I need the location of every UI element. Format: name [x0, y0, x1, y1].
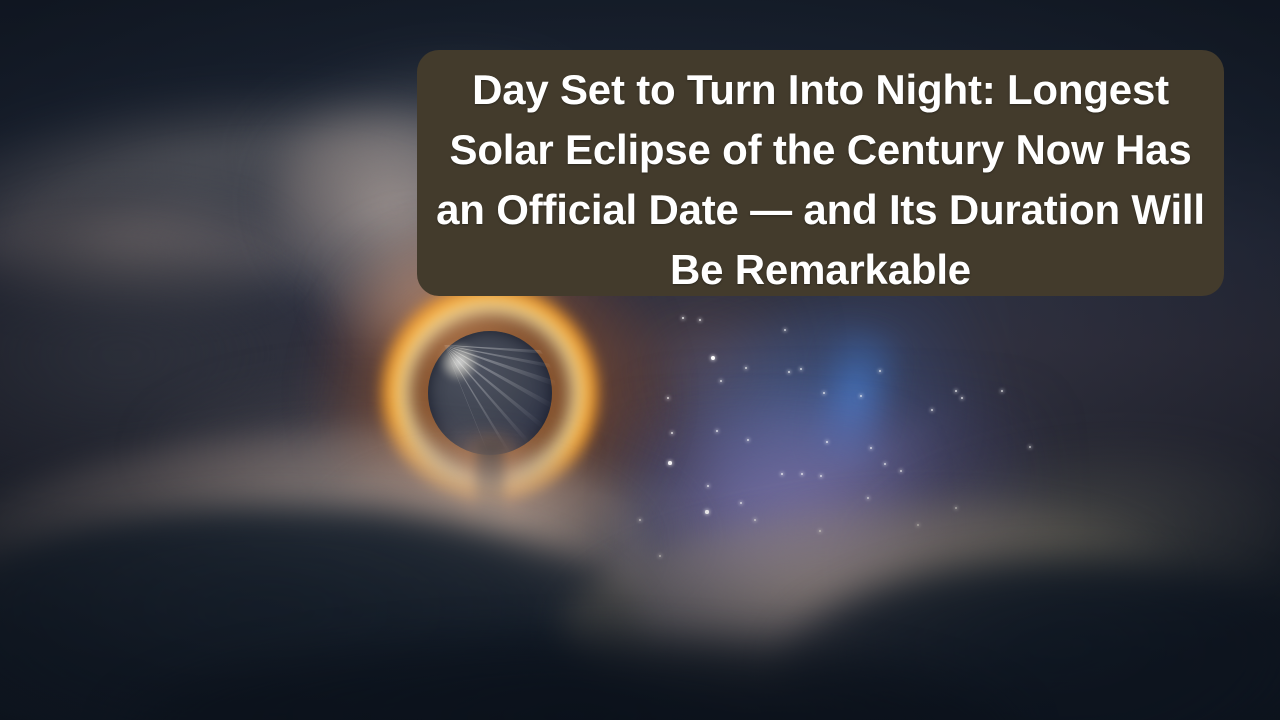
- star: [870, 447, 872, 449]
- star: [705, 510, 708, 513]
- star: [860, 395, 862, 397]
- headline-line: Day Set to Turn Into Night: Longest: [472, 66, 1169, 113]
- headline-card: Day Set to Turn Into Night: LongestSolar…: [417, 50, 1224, 296]
- star: [867, 497, 869, 499]
- star: [879, 370, 881, 372]
- star: [720, 380, 722, 382]
- star: [961, 397, 963, 399]
- star: [745, 367, 747, 369]
- star: [801, 473, 803, 475]
- star: [747, 439, 749, 441]
- headline-line: an Official Date — and Its Duration Will: [436, 186, 1205, 233]
- eclipse-diamond-ring-flare: [442, 345, 476, 379]
- star: [1001, 390, 1003, 392]
- star: [668, 461, 672, 465]
- star: [784, 329, 786, 331]
- headline-text: Day Set to Turn Into Night: LongestSolar…: [433, 60, 1208, 300]
- star: [1029, 446, 1031, 448]
- star: [820, 475, 822, 477]
- star: [884, 463, 886, 465]
- star: [740, 502, 742, 504]
- star: [900, 470, 902, 472]
- star: [931, 409, 933, 411]
- star: [707, 485, 709, 487]
- eclipse-hero-banner: Day Set to Turn Into Night: LongestSolar…: [0, 0, 1280, 720]
- star: [711, 356, 715, 360]
- star: [823, 392, 825, 394]
- star: [800, 368, 802, 370]
- headline-line: Solar Eclipse of the Century Now Has: [450, 126, 1192, 173]
- headline-line: Be Remarkable: [670, 246, 971, 293]
